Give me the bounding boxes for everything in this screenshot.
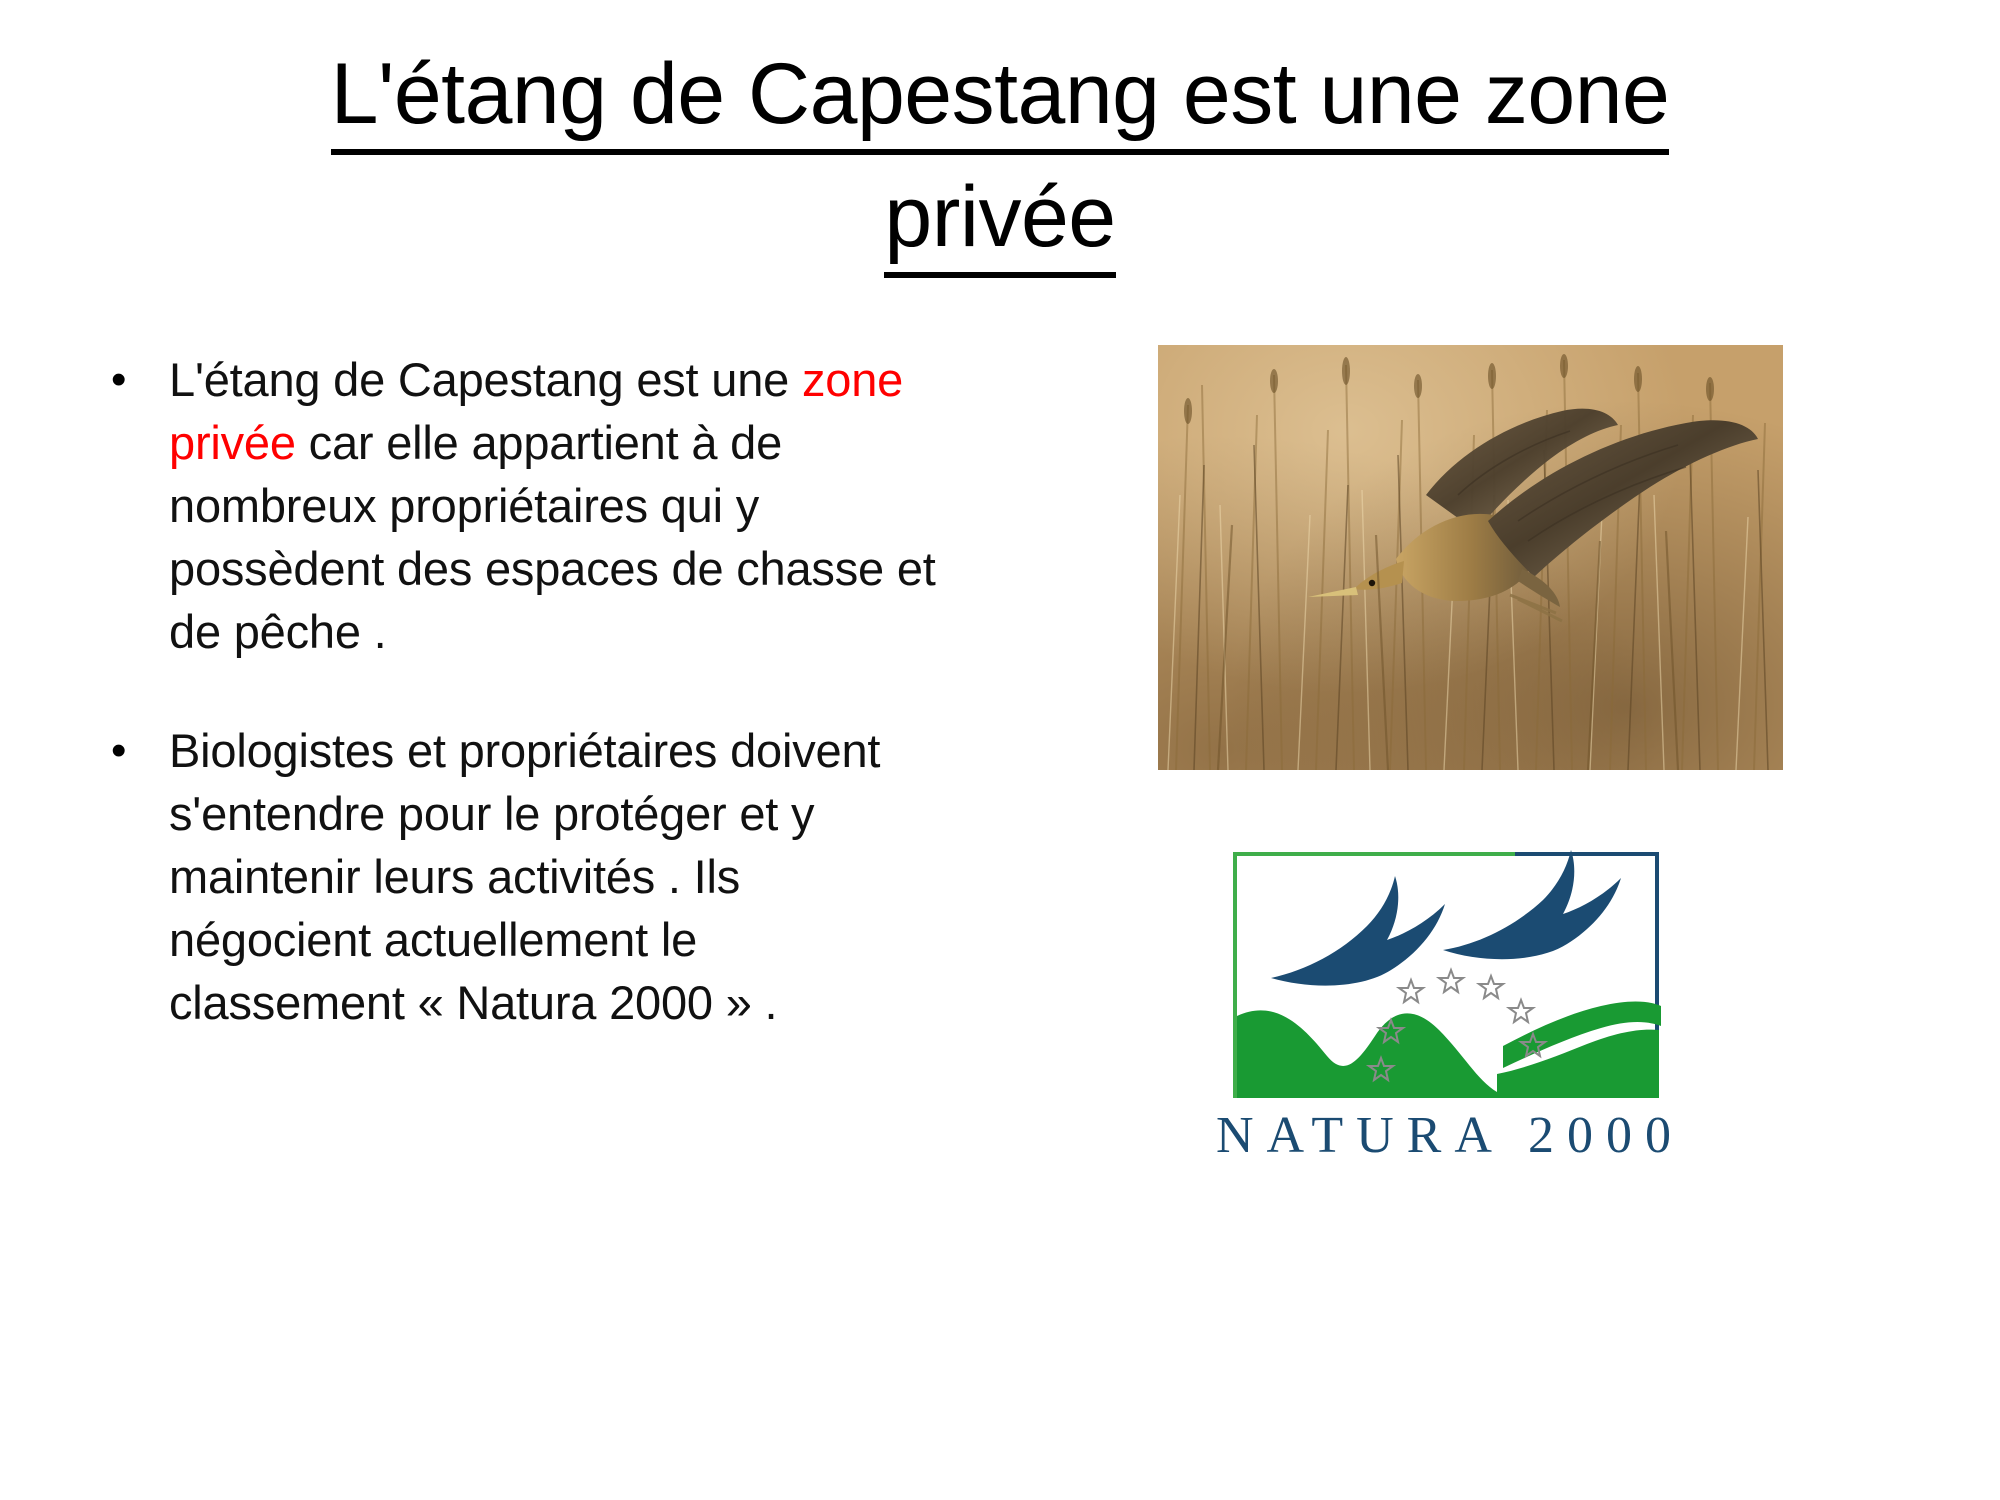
bird-eye bbox=[1369, 580, 1375, 586]
logo-wordmark: NATURA 2000 bbox=[1216, 1107, 1684, 1164]
bullet-list: • L'étang de Capestang est une zone priv… bbox=[105, 348, 945, 1090]
bullet-text-2: Biologistes et propriétaires doivent s'e… bbox=[169, 719, 945, 1034]
bullet-1-segment-a: L'étang de Capestang est une bbox=[169, 353, 802, 406]
page-title-line-1: L'étang de Capestang est une zone bbox=[331, 42, 1670, 155]
photo-vector-layer bbox=[1158, 345, 1783, 770]
natura-2000-logo-graphic: NATURA 2000 bbox=[1215, 830, 1685, 1180]
list-item: • L'étang de Capestang est une zone priv… bbox=[105, 348, 945, 663]
photo-reed-texture bbox=[1158, 345, 1783, 770]
slide-root: L'étang de Capestang est une zone privée… bbox=[0, 0, 2000, 1500]
list-item: • Biologistes et propriétaires doivent s… bbox=[105, 719, 945, 1034]
bittern-flying-over-reeds-photo bbox=[1158, 345, 1783, 770]
bullet-text-1: L'étang de Capestang est une zone privée… bbox=[169, 348, 945, 663]
logo-mountains bbox=[1237, 1010, 1497, 1098]
page-title-line-2: privée bbox=[884, 165, 1115, 278]
bullet-marker-icon: • bbox=[105, 719, 169, 783]
natura-2000-logo: NATURA 2000 bbox=[1215, 830, 1685, 1180]
logo-birds bbox=[1271, 850, 1621, 986]
page-title: L'étang de Capestang est une zone privée bbox=[100, 42, 1900, 278]
bullet-marker-icon: • bbox=[105, 348, 169, 412]
